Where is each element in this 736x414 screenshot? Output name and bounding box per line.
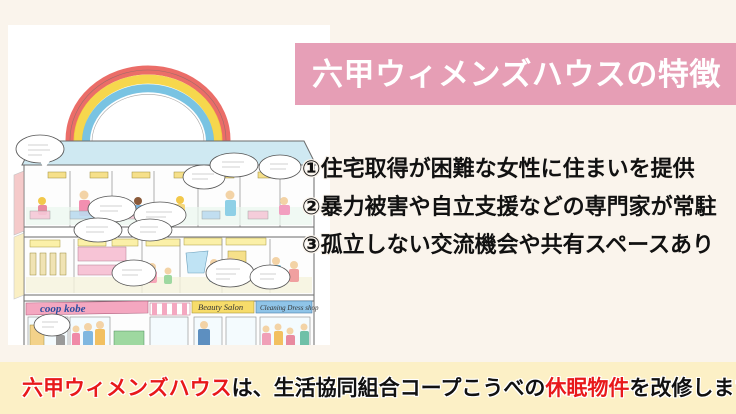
feature-list: ①住宅取得が困難な女性に住まいを提供 ②暴力被害や自立支援などの専門家が常駐 ③…: [302, 158, 736, 272]
feature-item-3: ③孤立しない交流機会や共有スペースあり: [302, 234, 736, 256]
svg-text:Beauty Salon: Beauty Salon: [198, 302, 243, 312]
feature-item-1: ①住宅取得が困難な女性に住まいを提供: [302, 158, 736, 180]
floor-shops: coop kobe Beauty Salon: [24, 295, 319, 345]
caption-part-4: を改修します。: [629, 377, 736, 400]
shop-sign-cleaning-dress: Cleaning Dress shop: [256, 301, 319, 313]
svg-text:Cleaning Dress shop: Cleaning Dress shop: [260, 304, 319, 312]
feature-text-3: 孤立しない交流機会や共有スペースあり: [321, 232, 714, 257]
feature-text-2: 暴力被害や自立支援などの専門家が常駐: [321, 194, 717, 219]
building-illustration: coop kobe Beauty Salon: [8, 25, 330, 345]
shop-sign-coop-kobe: coop kobe: [26, 301, 148, 315]
page-title: 六甲ウィメンズハウスの特徴: [312, 59, 721, 90]
feature-number-3: ③: [302, 232, 321, 257]
caption-part-3: 休眠物件: [545, 377, 629, 400]
caption-part-1: 六甲ウィメンズハウス: [22, 377, 232, 400]
caption-text: 六甲ウィメンズハウスは、生活協同組合コープこうべの休眠物件を改修します。: [22, 378, 736, 399]
striped-awning: [150, 303, 190, 315]
feature-number-1: ①: [302, 156, 321, 181]
caption-part-2: は、生活協同組合コープこうべの: [232, 377, 546, 400]
shop-sign-beauty-salon: Beauty Salon: [192, 301, 254, 313]
svg-text:coop kobe: coop kobe: [40, 303, 86, 315]
feature-number-2: ②: [302, 194, 321, 219]
feature-item-2: ②暴力被害や自立支援などの専門家が常駐: [302, 196, 736, 218]
slide-root: coop kobe Beauty Salon: [0, 0, 736, 414]
caption-bar: 六甲ウィメンズハウスは、生活協同組合コープこうべの休眠物件を改修します。: [0, 362, 736, 414]
feature-text-1: 住宅取得が困難な女性に住まいを提供: [321, 156, 695, 181]
title-banner: 六甲ウィメンズハウスの特徴: [295, 43, 736, 105]
illustration-canvas: coop kobe Beauty Salon: [8, 25, 330, 345]
